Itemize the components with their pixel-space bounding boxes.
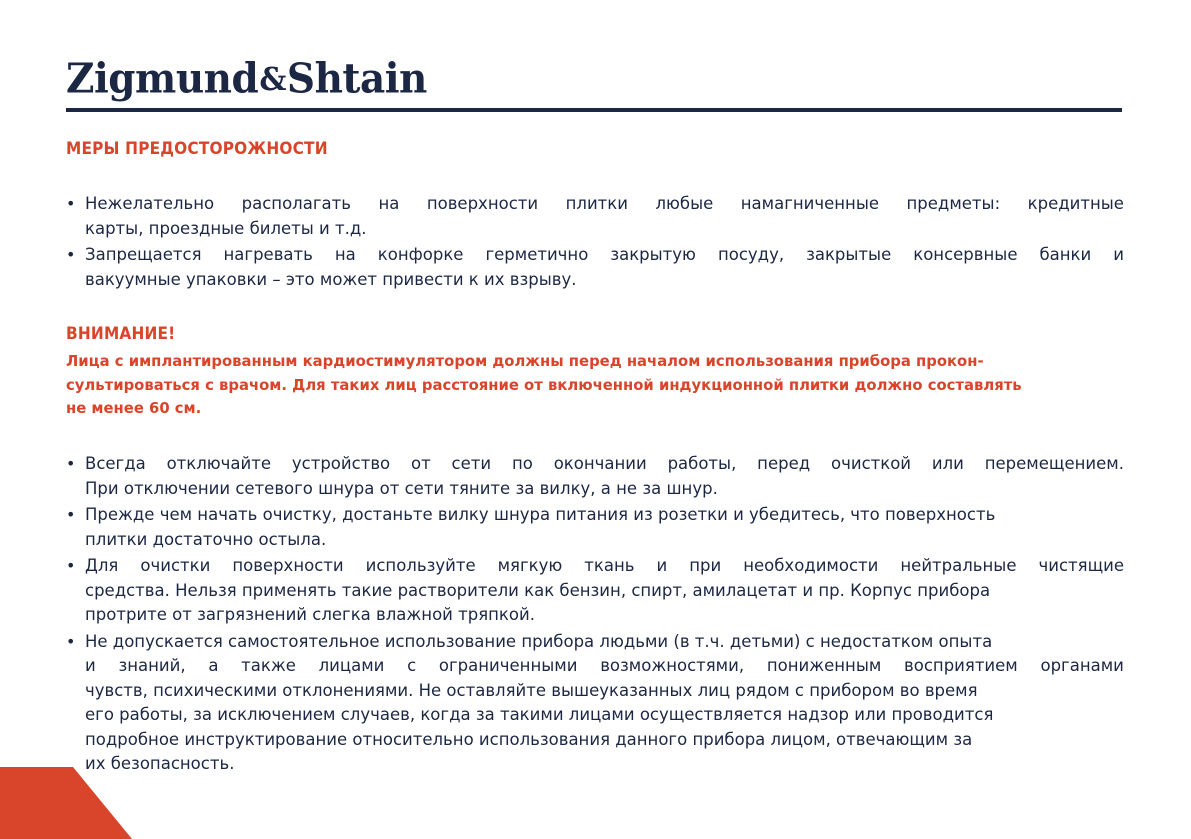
brand-logo: Zigmund&Shtain xyxy=(66,55,1122,104)
list-item-text: Прежде чем начать очистку, достаньте вил… xyxy=(85,503,1124,552)
list-item: •Запрещаетсянагреватьнаконфоркегерметичн… xyxy=(66,243,1124,292)
bullet-marker-icon: • xyxy=(66,503,85,528)
bullet-marker-icon: • xyxy=(66,192,85,217)
text-line: чувств, психическими отклонениями. Не ос… xyxy=(85,679,1124,704)
section-heading-attention: ВНИМАНИЕ! xyxy=(66,324,175,343)
text-line: Дляочисткиповерхностииспользуйтемягкуютк… xyxy=(85,554,1124,579)
text-line: его работы, за исключением случаев, когд… xyxy=(85,703,1124,728)
list-item: •Дляочисткиповерхностииспользуйтемягкуют… xyxy=(66,554,1124,628)
list-item: •Нежелательнорасполагатьнаповерхностипли… xyxy=(66,192,1124,241)
text-line: Не допускается самостоятельное использов… xyxy=(85,630,1124,655)
text-line: изнаний,атакжелицамисограниченнымивозмож… xyxy=(85,654,1124,679)
text-line: плитки достаточно остыла. xyxy=(85,528,1124,553)
text-line: средства. Нельзя применять такие раствор… xyxy=(85,579,1124,604)
bullet-marker-icon: • xyxy=(66,243,85,268)
document-header: Zigmund&Shtain xyxy=(66,58,1122,104)
brand-ampersand: & xyxy=(258,62,287,99)
list-item-text: Дляочисткиповерхностииспользуйтемягкуютк… xyxy=(85,554,1124,628)
text-line: не менее 60 см. xyxy=(66,397,1078,421)
text-line: При отключении сетевого шнура от сети тя… xyxy=(85,477,1124,502)
text-line: Прежде чем начать очистку, достаньте вил… xyxy=(85,503,1124,528)
pacemaker-warning-paragraph: Лица с имплантированным кардиостимулятор… xyxy=(66,350,1078,421)
list-item: •Всегдаотключайтеустройствоотсетипооконч… xyxy=(66,452,1124,501)
text-line: протрите от загрязнений слегка влажной т… xyxy=(85,603,1124,628)
bullet-marker-icon: • xyxy=(66,452,85,477)
text-line: Запрещаетсянагреватьнаконфоркегерметично… xyxy=(85,243,1124,268)
section-heading-precautions: МЕРЫ ПРЕДОСТОРОЖНОСТИ xyxy=(66,139,328,158)
text-line: подробное инструктирование относительно … xyxy=(85,728,1124,753)
bullet-marker-icon: • xyxy=(66,554,85,579)
red-trapezoid-decoration xyxy=(0,767,132,839)
list-item: •Не допускается самостоятельное использо… xyxy=(66,630,1124,777)
text-line: Всегдаотключайтеустройствоотсетипооконча… xyxy=(85,452,1124,477)
usage-bullet-list: •Всегдаотключайтеустройствоотсетипооконч… xyxy=(66,452,1124,779)
text-line: вакуумные упаковки – это может привести … xyxy=(85,268,1124,293)
list-item-text: Запрещаетсянагреватьнаконфоркегерметично… xyxy=(85,243,1124,292)
list-item-text: Нежелательнорасполагатьнаповерхностиплит… xyxy=(85,192,1124,241)
document-page: Zigmund&Shtain МЕРЫ ПРЕДОСТОРОЖНОСТИ •Не… xyxy=(0,0,1191,839)
text-line: Лица с имплантированным кардиостимулятор… xyxy=(66,350,1078,374)
list-item-text: Не допускается самостоятельное использов… xyxy=(85,630,1124,777)
bullet-marker-icon: • xyxy=(66,630,85,655)
precautions-bullet-list: •Нежелательнорасполагатьнаповерхностипли… xyxy=(66,192,1124,294)
list-item-text: Всегдаотключайтеустройствоотсетипооконча… xyxy=(85,452,1124,501)
text-line: Нежелательнорасполагатьнаповерхностиплит… xyxy=(85,192,1124,217)
text-line: сультироваться с врачом. Для таких лиц р… xyxy=(66,374,1078,398)
list-item: •Прежде чем начать очистку, достаньте ви… xyxy=(66,503,1124,552)
header-divider-rule xyxy=(66,108,1122,112)
text-line: карты, проездные билеты и т.д. xyxy=(85,217,1124,242)
brand-name-part1: Zigmund xyxy=(66,54,258,103)
brand-name-part2: Shtain xyxy=(287,54,427,103)
text-line: их безопасность. xyxy=(85,752,1124,777)
